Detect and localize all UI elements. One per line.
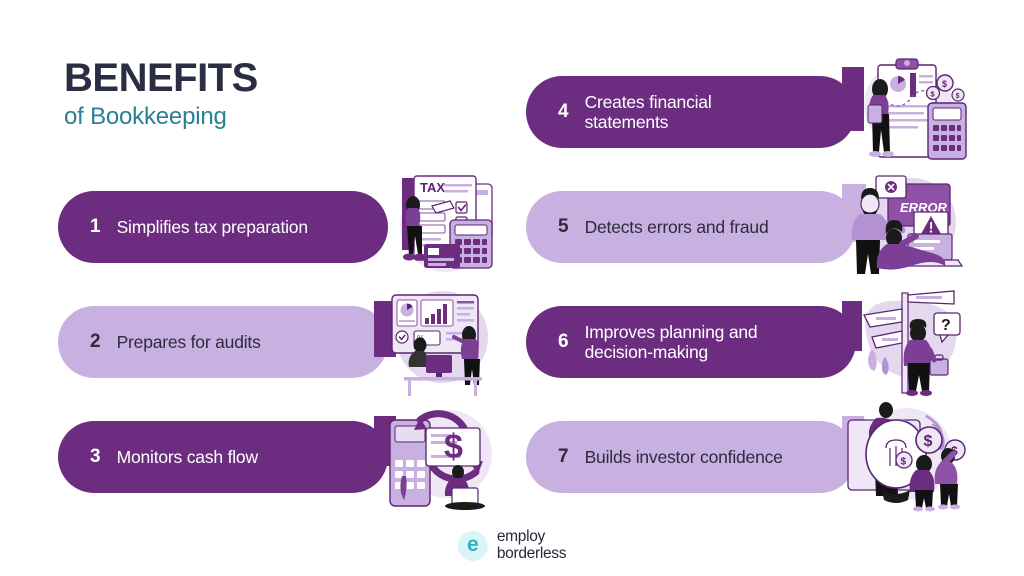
logo-line-1: employ xyxy=(497,529,566,545)
benefit-row-6: 6 Improves planning and decision-making … xyxy=(526,287,972,397)
svg-text:$: $ xyxy=(901,457,907,468)
benefit-number-1: 1 xyxy=(90,216,101,238)
benefit-label-2: Prepares for audits xyxy=(117,332,261,352)
page-title: BENEFITS of Bookkeeping xyxy=(64,58,258,131)
infographic-canvas: BENEFITS of Bookkeeping 1 Simplifies tax… xyxy=(0,0,1024,576)
benefit-label-3: Monitors cash flow xyxy=(117,447,258,467)
benefit-number-4: 4 xyxy=(558,101,569,123)
benefit-row-1: 1 Simplifies tax preparation TAX xyxy=(58,172,504,282)
benefit-label-7: Builds investor confidence xyxy=(585,447,783,467)
error-detection-illustration: ERROR xyxy=(842,172,972,284)
benefit-number-7: 7 xyxy=(558,446,569,468)
svg-text:$: $ xyxy=(924,433,933,450)
tax-form-illustration: TAX xyxy=(374,172,504,284)
benefit-label-1: Simplifies tax preparation xyxy=(117,217,308,237)
lightbulb-investment-illustration: $ $ $ xyxy=(842,402,972,514)
benefit-row-5: 5 Detects errors and fraud ERROR xyxy=(526,172,972,282)
svg-text:$: $ xyxy=(444,428,463,466)
title-subtitle: of Bookkeeping xyxy=(64,103,258,131)
benefit-pill-1[interactable]: 1 Simplifies tax preparation xyxy=(58,191,388,263)
svg-text:TAX: TAX xyxy=(420,180,445,195)
financial-statement-illustration: $ $ $ xyxy=(842,57,972,169)
benefit-label-6: Improves planning and decision-making xyxy=(585,322,758,363)
audit-dashboard-illustration: % xyxy=(374,287,504,399)
benefit-number-2: 2 xyxy=(90,331,101,353)
svg-text:$: $ xyxy=(942,79,947,89)
benefit-row-7: 7 Builds investor confidence xyxy=(526,402,972,512)
logo-e-icon: e xyxy=(458,531,488,561)
benefit-row-2: 2 Prepares for audits xyxy=(58,287,504,397)
benefit-pill-6[interactable]: 6 Improves planning and decision-making xyxy=(526,306,856,378)
benefit-pill-5[interactable]: 5 Detects errors and fraud xyxy=(526,191,856,263)
logo-line-2: borderless xyxy=(497,546,566,562)
benefit-row-3: 3 Monitors cash flow xyxy=(58,402,504,512)
signpost-decision-illustration: ? xyxy=(842,287,972,399)
benefit-number-6: 6 xyxy=(558,331,569,353)
cash-flow-cycle-illustration: $ xyxy=(374,402,504,514)
benefit-number-3: 3 xyxy=(90,446,101,468)
benefit-label-4: Creates financial statements xyxy=(585,92,712,133)
benefit-pill-7[interactable]: 7 Builds investor confidence xyxy=(526,421,856,493)
benefit-row-4: 4 Creates financial statements xyxy=(526,57,972,167)
svg-text:?: ? xyxy=(941,317,951,334)
benefit-number-5: 5 xyxy=(558,216,569,238)
employ-borderless-logo: e employ borderless xyxy=(458,529,566,562)
benefit-label-5: Detects errors and fraud xyxy=(585,217,769,237)
svg-text:$: $ xyxy=(956,93,960,100)
benefit-pill-2[interactable]: 2 Prepares for audits xyxy=(58,306,388,378)
benefit-pill-4[interactable]: 4 Creates financial statements xyxy=(526,76,856,148)
benefit-pill-3[interactable]: 3 Monitors cash flow xyxy=(58,421,388,493)
title-main: BENEFITS xyxy=(64,58,258,99)
logo-wordmark: employ borderless xyxy=(497,529,566,562)
